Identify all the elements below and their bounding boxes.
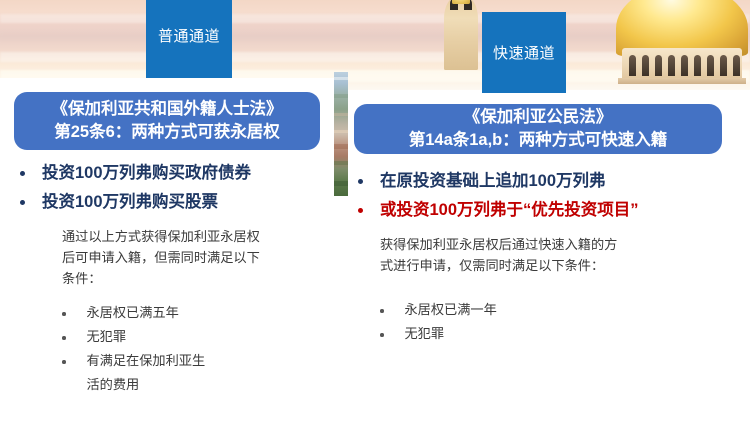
sub-bullet-dot-icon (380, 333, 384, 337)
list-item: 无犯罪 (380, 322, 750, 346)
arch-window (655, 55, 662, 76)
bullet-label: 或投资100万列弗于“优先投资项目” (380, 197, 639, 224)
arch-window (720, 55, 727, 76)
arch-window (668, 55, 675, 76)
sub-bullet-label: 无犯罪 (87, 325, 127, 349)
law-banner-line-2: 第25条6：两种方式可获永居权 (54, 121, 280, 144)
arch-window (681, 55, 688, 76)
arch-window (733, 55, 740, 76)
bullet-label: 投资100万列弗购买政府债券 (42, 160, 251, 187)
bullet-dot-icon (358, 179, 363, 184)
bullet-label: 投资100万列弗购买股票 (42, 189, 218, 216)
sub-bullet-label: 永居权已满一年 (405, 298, 497, 322)
bullet-dot-icon (20, 200, 25, 205)
paragraph-line: 获得保加利亚永居权后通过快速入籍的方 (380, 234, 750, 255)
tab-normal-channel[interactable]: 普通通道 (146, 0, 232, 78)
sub-bullet-label: 有满足在保加利亚生 (87, 349, 206, 373)
sub-bullet-dot-icon (62, 336, 66, 340)
cathedral-cornice (618, 78, 746, 84)
list-item: 或投资100万列弗于“优先投资项目” (348, 197, 750, 224)
sub-bullet-label: 无犯罪 (405, 322, 445, 346)
paragraph-line: 通过以上方式获得保加利亚永居权 (62, 226, 340, 247)
law-banner-normal-channel: 《保加利亚共和国外籍人士法》 第25条6：两种方式可获永居权 (14, 92, 320, 150)
paragraph-line: 条件： (62, 268, 340, 289)
photo-strip-band (334, 130, 348, 133)
normal-channel-conditions: 永居权已满五年 无犯罪 有满足在保加利亚生 活的费用 (0, 301, 340, 397)
arch-window (629, 55, 636, 76)
tab-normal-channel-label: 普通通道 (158, 25, 220, 46)
photo-strip-band (334, 144, 348, 149)
normal-channel-content: 投资100万列弗购买政府债券 投资100万列弗购买股票 通过以上方式获得保加利亚… (0, 160, 340, 397)
law-banner-line-2: 第14a条1a,b：两种方式可快速入籍 (409, 129, 668, 152)
cathedral-arcade (622, 48, 742, 80)
list-item: 永居权已满五年 (62, 301, 340, 325)
tab-fast-channel[interactable]: 快速通道 (482, 12, 566, 93)
list-item: 无犯罪 (62, 325, 340, 349)
arch-window (707, 55, 714, 76)
sub-bullet-dot-icon (380, 309, 384, 313)
bullet-dot-icon (358, 208, 363, 213)
normal-channel-paragraph: 通过以上方式获得保加利亚永居权 后可申请入籍，但需同时满足以下 条件： (0, 226, 340, 289)
sub-bullet-dot-icon (62, 312, 66, 316)
list-item: 投资100万列弗购买政府债券 (0, 160, 340, 187)
paragraph-line: 式进行申请，仅需同时满足以下条件： (380, 255, 750, 276)
cathedral-tower (444, 0, 478, 70)
sub-bullet-dot-icon (62, 360, 66, 364)
sub-bullet-label-cont: 活的费用 (87, 373, 206, 397)
law-banner-line-1: 《保加利亚共和国外籍人士法》 (52, 98, 283, 121)
fast-channel-paragraph: 获得保加利亚永居权后通过快速入籍的方 式进行申请，仅需同时满足以下条件： (348, 234, 750, 276)
paragraph-line: 后可申请入籍，但需同时满足以下 (62, 247, 340, 268)
arch-window (642, 55, 649, 76)
law-banner-line-1: 《保加利亚公民法》 (464, 106, 613, 129)
photo-strip-band (334, 94, 348, 98)
fast-channel-conditions: 永居权已满一年 无犯罪 (348, 298, 750, 346)
tab-fast-channel-label: 快速通道 (493, 42, 555, 63)
arch-window (694, 55, 701, 76)
photo-strip-band (334, 113, 348, 116)
photo-strip-band (334, 77, 348, 80)
sub-bullet-label: 永居权已满五年 (87, 301, 179, 325)
list-item: 投资100万列弗购买股票 (0, 189, 340, 216)
bullet-dot-icon (20, 171, 25, 176)
fast-channel-content: 在原投资基础上追加100万列弗 或投资100万列弗于“优先投资项目” 获得保加利… (348, 168, 750, 346)
tower-gold-cap-icon (452, 0, 470, 4)
bullet-label: 在原投资基础上追加100万列弗 (380, 168, 606, 195)
law-banner-fast-channel: 《保加利亚公民法》 第14a条1a,b：两种方式可快速入籍 (354, 104, 722, 154)
list-item: 在原投资基础上追加100万列弗 (348, 168, 750, 195)
list-item: 有满足在保加利亚生 活的费用 (62, 349, 340, 397)
list-item: 永居权已满一年 (380, 298, 750, 322)
